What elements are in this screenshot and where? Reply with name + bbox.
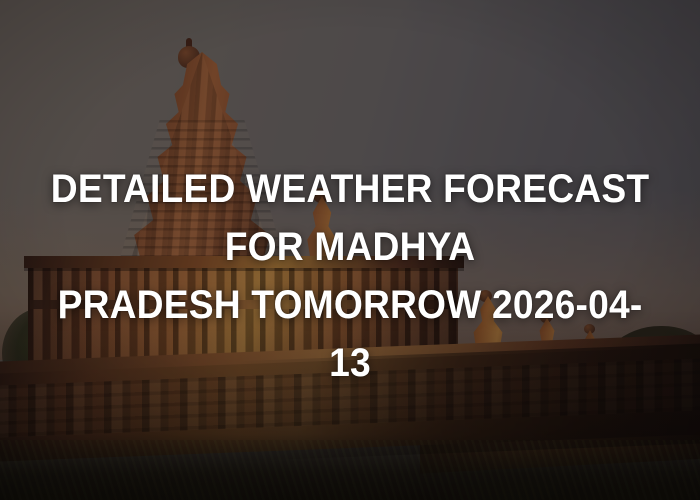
banner-title-container: DETAILED WEATHER FORECAST FOR MADHYA PRA… <box>0 160 700 392</box>
page-title: DETAILED WEATHER FORECAST FOR MADHYA PRA… <box>47 160 653 392</box>
weather-forecast-hero-banner: DETAILED WEATHER FORECAST FOR MADHYA PRA… <box>0 0 700 500</box>
